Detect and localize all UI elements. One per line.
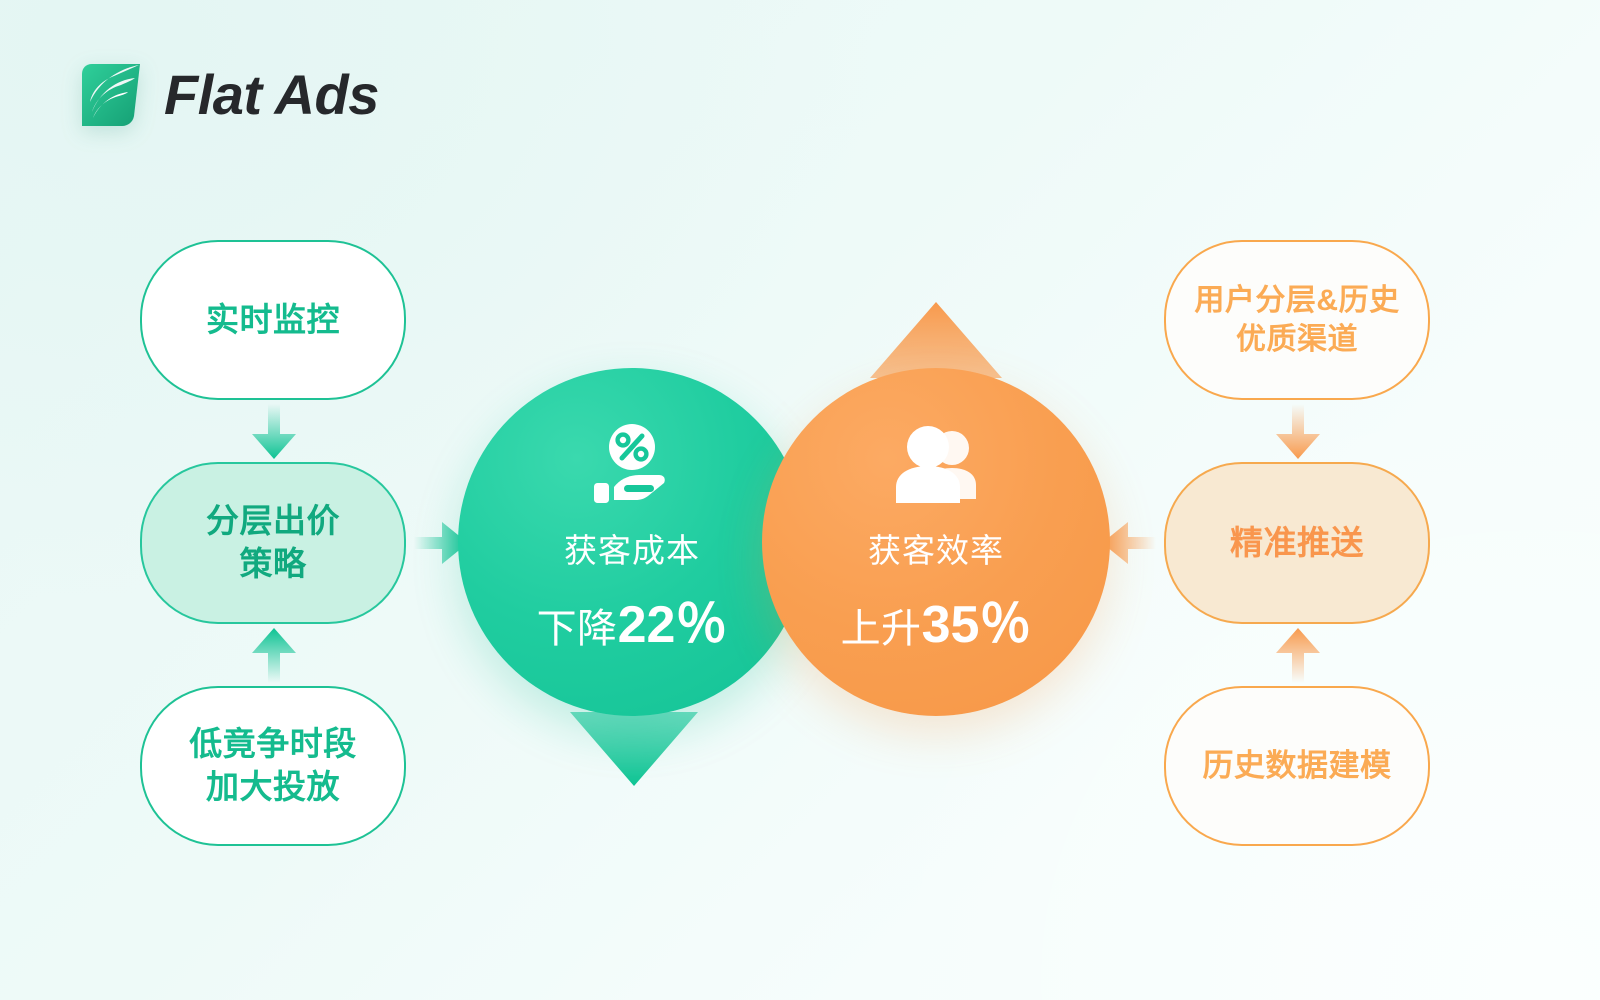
two-users-icon <box>884 424 988 510</box>
arrow-boost-to-bidding-icon <box>248 626 300 684</box>
arrow-modeling-to-push-icon <box>1272 626 1324 684</box>
card-low-competition-boost[interactable]: 低竟争时段 加大投放 <box>140 686 406 846</box>
card-label-line1: 分层出价 <box>206 500 340 543</box>
flat-ads-leaf-logo-icon <box>78 62 144 128</box>
card-historical-data-modeling[interactable]: 历史数据建模 <box>1164 686 1430 846</box>
card-label: 历史数据建模 <box>1203 746 1392 786</box>
metric-value: 35 <box>922 595 980 655</box>
card-label: 实时监控 <box>206 299 340 342</box>
card-label: 精准推送 <box>1230 522 1364 565</box>
infographic-canvas: Flat Ads 实时监控 分层出价 策略 低竟争时段 加大投放 用户分层&历史… <box>0 0 1600 1000</box>
arrow-channels-to-push-icon <box>1272 404 1324 460</box>
card-label-line2: 策略 <box>206 543 340 586</box>
circle-label: 获客成本 <box>564 524 700 572</box>
brand-name: Flat Ads <box>164 67 379 123</box>
card-tiered-bidding-strategy[interactable]: 分层出价 策略 <box>140 462 406 624</box>
brand-logo: Flat Ads <box>78 62 379 128</box>
card-user-tiering-quality-channels[interactable]: 用户分层&历史 优质渠道 <box>1164 240 1430 400</box>
circle-metric: 上升 35 ％ <box>841 582 1032 657</box>
metric-circle-acquisition-cost: 获客成本 下降 22 ％ <box>458 368 806 716</box>
metric-prefix: 上升 <box>841 596 922 654</box>
card-label-line2: 优质渠道 <box>1194 320 1399 359</box>
circle-metric: 下降 22 ％ <box>537 582 728 657</box>
arrow-monitoring-to-bidding-icon <box>248 404 300 460</box>
metric-prefix: 下降 <box>537 596 618 654</box>
card-label-line2: 加大投放 <box>189 766 357 809</box>
metric-circle-acquisition-efficiency: 获客效率 上升 35 ％ <box>762 368 1110 716</box>
circle-label: 获客效率 <box>868 524 1004 572</box>
metric-value: 22 <box>618 595 676 655</box>
card-precise-push[interactable]: 精准推送 <box>1164 462 1430 624</box>
metric-suffix: ％ <box>675 582 727 657</box>
card-real-time-monitoring[interactable]: 实时监控 <box>140 240 406 400</box>
metric-suffix: ％ <box>979 582 1031 657</box>
card-label-line1: 低竟争时段 <box>189 723 357 766</box>
hand-holding-percent-icon <box>580 424 684 510</box>
card-label-line1: 用户分层&历史 <box>1194 281 1399 320</box>
